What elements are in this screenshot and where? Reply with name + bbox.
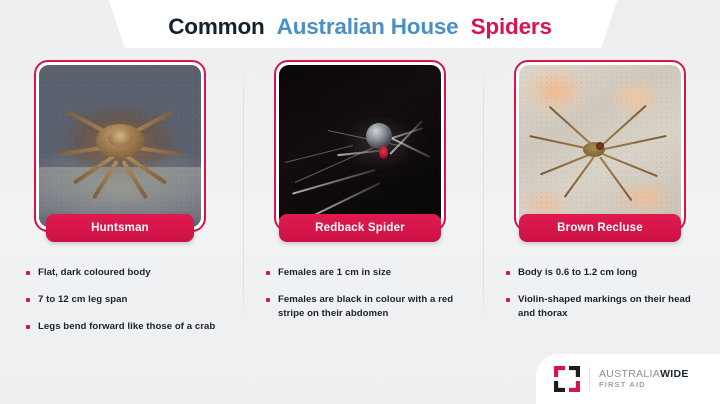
bullet-dot-icon <box>506 271 510 275</box>
list-item: Females are 1 cm in size <box>266 266 458 280</box>
huntsman-photo <box>39 65 201 227</box>
australia-wide-cross-logo-icon <box>554 366 580 392</box>
bullet-dot-icon <box>266 298 270 302</box>
brand-wide: WIDE <box>660 368 689 380</box>
photo-card: Huntsman <box>34 60 206 232</box>
fact-text: Flat, dark coloured body <box>38 266 151 280</box>
bullet-dot-icon <box>26 298 30 302</box>
bullet-dot-icon <box>506 298 510 302</box>
title-part-spiders: Spiders <box>471 14 552 39</box>
footer-logo-panel: AUSTRALIAWIDE FIRST AID <box>536 354 720 404</box>
fact-text: Legs bend forward like those of a crab <box>38 320 215 334</box>
spider-name-badge: Huntsman <box>46 214 194 242</box>
bullet-dot-icon <box>26 325 30 329</box>
brand-name: AUSTRALIAWIDE FIRST AID <box>599 368 689 390</box>
infographic-poster: Common Australian House Spiders <box>0 0 720 404</box>
list-item: 7 to 12 cm leg span <box>26 293 218 307</box>
spider-card-huntsman: Huntsman Flat, dark coloured body 7 to 1… <box>0 60 240 350</box>
spider-card-redback: Redback Spider Females are 1 cm in size … <box>240 60 480 350</box>
bullet-dot-icon <box>26 271 30 275</box>
fact-list: Females are 1 cm in size Females are bla… <box>262 266 458 334</box>
spider-card-brown-recluse: Brown Recluse Body is 0.6 to 1.2 cm long… <box>480 60 720 350</box>
photo-card: Redback Spider <box>274 60 446 232</box>
fact-text: Violin-shaped markings on their head and… <box>518 293 698 321</box>
spider-columns: Huntsman Flat, dark coloured body 7 to 1… <box>0 60 720 350</box>
page-title: Common Australian House Spiders <box>0 14 720 40</box>
photo-card: Brown Recluse <box>514 60 686 232</box>
redback-photo <box>279 65 441 227</box>
list-item: Violin-shaped markings on their head and… <box>506 293 698 321</box>
list-item: Body is 0.6 to 1.2 cm long <box>506 266 698 280</box>
list-item: Legs bend forward like those of a crab <box>26 320 218 334</box>
fact-text: 7 to 12 cm leg span <box>38 293 127 307</box>
list-item: Females are black in colour with a red s… <box>266 293 458 321</box>
fact-list: Body is 0.6 to 1.2 cm long Violin-shaped… <box>502 266 698 334</box>
fact-text: Females are 1 cm in size <box>278 266 391 280</box>
spider-name-badge: Redback Spider <box>279 214 441 242</box>
title-part-common: Common <box>168 14 264 39</box>
list-item: Flat, dark coloured body <box>26 266 218 280</box>
brand-australia: AUSTRALIA <box>599 368 660 380</box>
spider-name-badge: Brown Recluse <box>519 214 681 242</box>
logo-divider <box>589 367 590 391</box>
fact-list: Flat, dark coloured body 7 to 12 cm leg … <box>22 266 218 347</box>
fact-text: Body is 0.6 to 1.2 cm long <box>518 266 637 280</box>
fact-text: Females are black in colour with a red s… <box>278 293 458 321</box>
bullet-dot-icon <box>266 271 270 275</box>
title-part-australian-house: Australian House <box>277 14 459 39</box>
brown-recluse-photo <box>519 65 681 227</box>
brand-tagline: FIRST AID <box>599 381 689 390</box>
